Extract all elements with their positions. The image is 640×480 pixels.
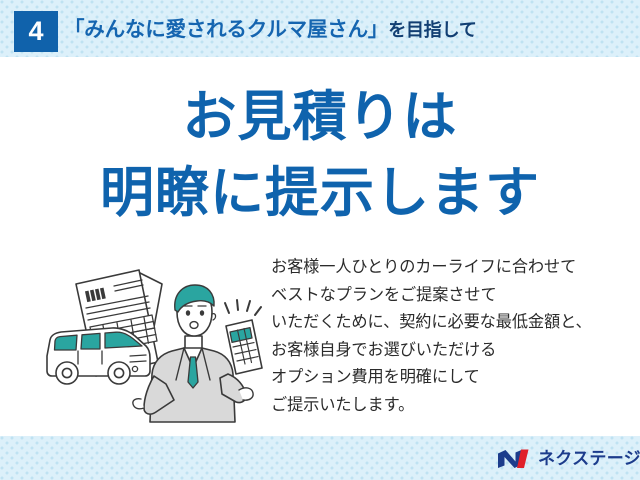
body-line: お客様一人ひとりのカーライフに合わせて (271, 254, 631, 282)
body-line: いただくために、契約に必要な最低金額と、 (271, 309, 631, 337)
header-title: 「みんなに愛されるクルマ屋さん」を目指して (64, 15, 477, 45)
nextage-n-logo-icon (497, 448, 531, 470)
body-line: お客様自身でお選びいただける (271, 337, 631, 365)
header-title-tail: を目指して (388, 20, 476, 40)
promo-slide: 4 「みんなに愛されるクルマ屋さん」を目指して お見積りは 明瞭に提示します お… (0, 0, 640, 480)
body-copy: お客様一人ひとりのカーライフに合わせて ベストなプランをご提案させて いただくた… (271, 254, 631, 420)
step-number-badge: 4 (14, 11, 58, 52)
salesman-estimate-illustration (34, 258, 266, 430)
brand-logo: ネクステージ (497, 447, 640, 471)
body-line: オプション費用を明確にして (271, 364, 631, 392)
header-title-quoted: 「みんなに愛されるクルマ屋さん」 (64, 18, 388, 41)
body-line: ベストなプランをご提案させて (271, 282, 631, 310)
brand-name: ネクステージ (538, 448, 640, 470)
body-line: ご提示いたします。 (271, 392, 631, 420)
headline-line-2: 明瞭に提示します (0, 162, 640, 224)
headline-line-1: お見積りは (0, 86, 640, 148)
